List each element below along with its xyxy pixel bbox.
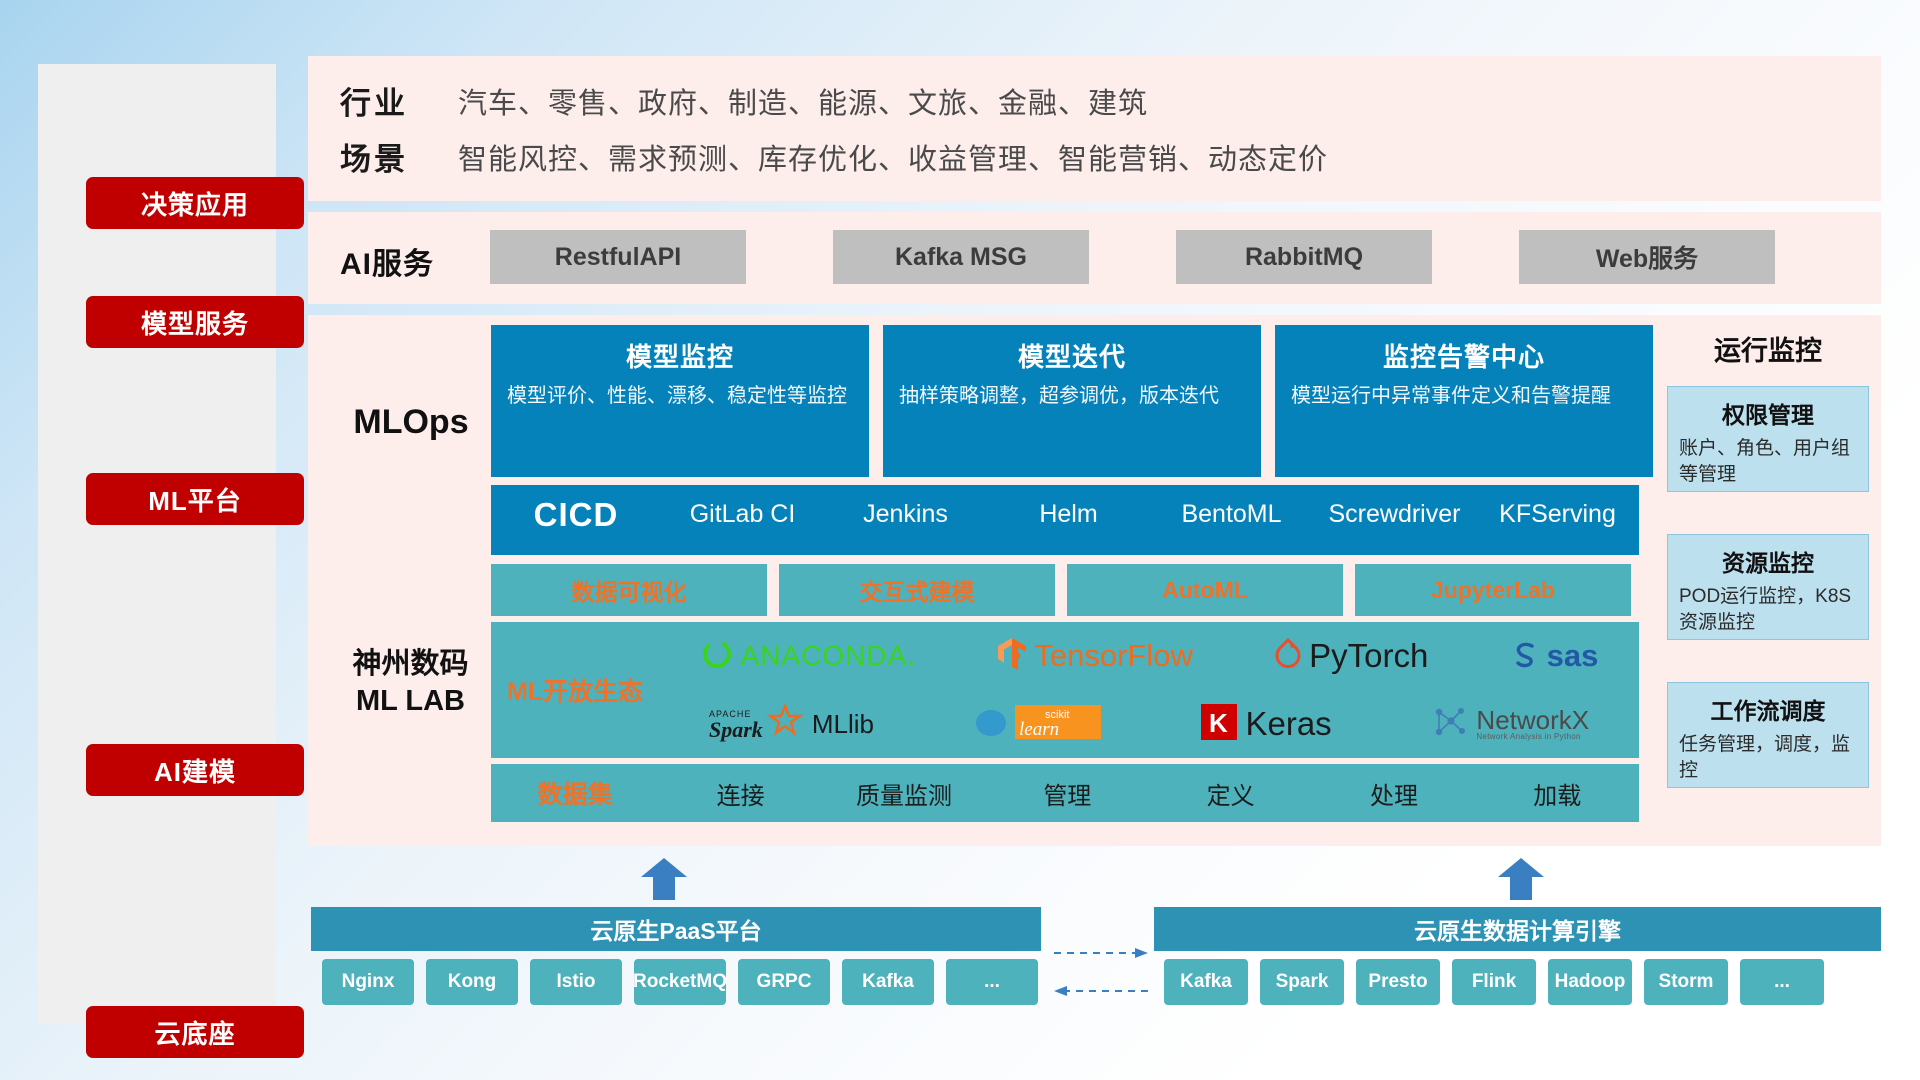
rail-label: 云底座 <box>154 1014 235 1051</box>
paas-pill-more[interactable]: ... <box>946 959 1038 1005</box>
networkx-icon <box>1431 704 1469 745</box>
paas-pill-istio[interactable]: Istio <box>530 959 622 1005</box>
cicd-item-gitlab-ci[interactable]: GitLab CI <box>661 496 824 532</box>
cicd-item-screwdriver[interactable]: Screwdriver <box>1313 496 1476 532</box>
scenario-value: 智能风控、需求预测、库存优化、收益管理、智能营销、动态定价 <box>458 136 1328 178</box>
ml-lab-label-line1: 神州数码 <box>328 646 493 683</box>
tool-chip-interactive-modeling[interactable]: 交互式建模 <box>779 564 1055 616</box>
mlops-band: MLOps 模型监控 模型评价、性能、漂移、稳定性等监控 模型迭代 抽样策略调整… <box>308 315 1881 557</box>
ml-lab-label: 神州数码 ML LAB <box>328 646 493 720</box>
engine-pill-presto[interactable]: Presto <box>1356 959 1440 1005</box>
paas-pill-grpc[interactable]: GRPC <box>738 959 830 1005</box>
ai-service-label: AI服务 <box>340 239 434 283</box>
service-chip-kafka-msg[interactable]: Kafka MSG <box>833 230 1089 284</box>
svg-text:K: K <box>1209 708 1228 738</box>
cicd-item-jenkins[interactable]: Jenkins <box>824 496 987 532</box>
card-desc: POD运行监控，K8S资源监控 <box>1679 584 1857 635</box>
tensorflow-icon <box>997 637 1027 676</box>
rail-item-decision-application[interactable]: 决策应用 <box>86 177 304 229</box>
paas-pill-rocketmq[interactable]: RocketMQ <box>634 959 726 1005</box>
modeling-tool-group: 数据可视化 交互式建模 AutoML JupyterLab <box>491 564 1631 616</box>
rail-label: ML平台 <box>148 481 242 518</box>
logo-label: TensorFlow <box>1034 638 1193 674</box>
card-desc: 任务管理，调度，监控 <box>1679 732 1857 783</box>
rail-label: 决策应用 <box>141 185 249 222</box>
keras-icon: K <box>1200 703 1238 746</box>
service-chip-restfulapi[interactable]: RestfulAPI <box>490 230 746 284</box>
engine-pill-spark[interactable]: Spark <box>1260 959 1344 1005</box>
card-desc: 模型评价、性能、漂移、稳定性等监控 <box>507 382 853 410</box>
engine-pill-more[interactable]: ... <box>1740 959 1824 1005</box>
ml-ecosystem-box: ML开放生态 ANACONDA. <box>491 622 1639 758</box>
dataset-title: 数据集 <box>491 775 659 811</box>
card-desc: 抽样策略调整，超参调优，版本迭代 <box>899 382 1245 410</box>
logo-label: ANACONDA. <box>741 640 916 672</box>
paas-component-group: Nginx Kong Istio RocketMQ GRPC Kafka ... <box>322 959 1038 1005</box>
networkx-tagline: Network Analysis in Python <box>1476 733 1589 741</box>
up-arrow-paas <box>641 858 687 900</box>
mlops-card-model-iteration[interactable]: 模型迭代 抽样策略调整，超参调优，版本迭代 <box>883 325 1261 477</box>
cicd-item-helm[interactable]: Helm <box>987 496 1150 532</box>
rail-label: AI建模 <box>154 752 236 789</box>
sas-icon <box>1510 639 1540 674</box>
engine-pill-storm[interactable]: Storm <box>1644 959 1728 1005</box>
logo-tensorflow[interactable]: TensorFlow <box>997 637 1193 676</box>
mlops-card-alert-center[interactable]: 监控告警中心 模型运行中异常事件定义和告警提醒 <box>1275 325 1653 477</box>
cicd-title: CICD <box>491 496 661 534</box>
mlops-card-model-monitoring[interactable]: 模型监控 模型评价、性能、漂移、稳定性等监控 <box>491 325 869 477</box>
runtime-monitoring-title: 运行监控 <box>1655 329 1881 368</box>
ai-service-chip-group: RestfulAPI Kafka MSG RabbitMQ Web服务 <box>490 230 1775 284</box>
card-title: 资源监控 <box>1679 544 1857 578</box>
rail-item-cloud-foundation[interactable]: 云底座 <box>86 1006 304 1058</box>
ml-ecosystem-title: ML开放生态 <box>491 672 659 708</box>
dataset-item-loading[interactable]: 加载 <box>1476 776 1639 811</box>
industry-row: 行业 汽车、零售、政府、制造、能源、文旅、金融、建筑 <box>340 78 1148 123</box>
cicd-bar: CICD GitLab CI Jenkins Helm BentoML Scre… <box>491 485 1639 555</box>
card-title: 工作流调度 <box>1679 692 1857 726</box>
ai-modeling-band: 神州数码 ML LAB 数据可视化 交互式建模 AutoML JupyterLa… <box>308 556 1881 846</box>
scikit-learn-icon <box>974 706 1008 743</box>
paas-pill-kafka[interactable]: Kafka <box>842 959 934 1005</box>
rail-item-ai-modeling[interactable]: AI建模 <box>86 744 304 796</box>
paas-platform-bar[interactable]: 云原生PaaS平台 <box>311 907 1041 951</box>
dataset-row: 数据集 连接 质量监测 管理 定义 处理 加载 <box>491 764 1639 822</box>
scenario-row: 场景 智能风控、需求预测、库存优化、收益管理、智能营销、动态定价 <box>340 134 1328 179</box>
scenario-label: 场景 <box>340 134 458 179</box>
data-engine-component-group: Kafka Spark Presto Flink Hadoop Storm ..… <box>1164 959 1824 1005</box>
tool-chip-jupyterlab[interactable]: JupyterLab <box>1355 564 1631 616</box>
dataset-item-connect[interactable]: 连接 <box>659 776 822 811</box>
cicd-item-bentoml[interactable]: BentoML <box>1150 496 1313 532</box>
card-title: 监控告警中心 <box>1291 337 1637 374</box>
bidirectional-dashed-arrows <box>1052 939 1150 1005</box>
left-rail: 决策应用 模型服务 ML平台 AI建模 云底座 <box>38 64 276 1024</box>
monitor-card-resource-monitoring[interactable]: 资源监控 POD运行监控，K8S资源监控 <box>1667 534 1869 640</box>
engine-pill-hadoop[interactable]: Hadoop <box>1548 959 1632 1005</box>
card-desc: 模型运行中异常事件定义和告警提醒 <box>1291 382 1637 410</box>
logo-sas[interactable]: sas <box>1510 638 1599 674</box>
runtime-monitoring-column: 运行监控 权限管理 账户、角色、用户组等管理 资源监控 POD运行监控，K8S资… <box>1655 315 1881 846</box>
paas-pill-kong[interactable]: Kong <box>426 959 518 1005</box>
monitor-card-workflow-scheduling[interactable]: 工作流调度 任务管理，调度，监控 <box>1667 682 1869 788</box>
logo-label: NetworkX <box>1476 707 1589 733</box>
dataset-item-quality-monitoring[interactable]: 质量监测 <box>822 776 985 811</box>
scikit-learn-wordmark: scikit learn <box>1015 703 1101 746</box>
ecosystem-logo-row-2: APACHE Spark MLlib <box>659 690 1639 758</box>
data-compute-engine-bar[interactable]: 云原生数据计算引擎 <box>1154 907 1881 951</box>
engine-pill-kafka[interactable]: Kafka <box>1164 959 1248 1005</box>
mlops-label: MLOps <box>336 403 486 442</box>
logo-spark-mllib[interactable]: APACHE Spark MLlib <box>709 702 874 747</box>
logo-label: sas <box>1547 638 1599 674</box>
logo-pytorch[interactable]: PyTorch <box>1274 637 1428 675</box>
decision-application-band: 行业 汽车、零售、政府、制造、能源、文旅、金融、建筑 场景 智能风控、需求预测、… <box>308 56 1881 201</box>
card-title: 权限管理 <box>1679 396 1857 430</box>
logo-label: Keras <box>1245 705 1331 743</box>
tool-chip-automl[interactable]: AutoML <box>1067 564 1343 616</box>
svg-text:Spark: Spark <box>709 717 763 742</box>
logo-scikit-learn[interactable]: scikit learn <box>974 703 1101 746</box>
rail-item-model-service[interactable]: 模型服务 <box>86 296 304 348</box>
svg-text:learn: learn <box>1019 719 1059 740</box>
apache-spark-icon: APACHE Spark <box>709 702 805 747</box>
paas-pill-nginx[interactable]: Nginx <box>322 959 414 1005</box>
anaconda-icon <box>700 637 734 676</box>
tool-chip-data-visualization[interactable]: 数据可视化 <box>491 564 767 616</box>
logo-anaconda[interactable]: ANACONDA. <box>700 637 916 676</box>
ecosystem-logo-row-1: ANACONDA. TensorFlow <box>659 622 1639 690</box>
logo-label: MLlib <box>812 709 874 740</box>
ml-lab-label-line2: ML LAB <box>328 683 493 720</box>
rail-label: 模型服务 <box>141 304 249 341</box>
industry-value: 汽车、零售、政府、制造、能源、文旅、金融、建筑 <box>458 80 1148 122</box>
cicd-item-kfserving[interactable]: KFServing <box>1476 496 1639 532</box>
up-arrow-data-engine <box>1498 858 1544 900</box>
dataset-item-processing[interactable]: 处理 <box>1312 776 1475 811</box>
logo-label: PyTorch <box>1309 637 1428 675</box>
card-title: 模型迭代 <box>899 337 1245 374</box>
engine-pill-flink[interactable]: Flink <box>1452 959 1536 1005</box>
dataset-item-definition[interactable]: 定义 <box>1149 776 1312 811</box>
service-chip-web-service[interactable]: Web服务 <box>1519 230 1775 284</box>
architecture-diagram: 决策应用 模型服务 ML平台 AI建模 云底座 行业 汽车、零售、政府、制造、能… <box>0 0 1920 1080</box>
pytorch-icon <box>1274 638 1302 675</box>
logo-networkx[interactable]: NetworkX Network Analysis in Python <box>1431 704 1589 745</box>
ml-ecosystem-logos: ANACONDA. TensorFlow <box>659 622 1639 758</box>
rail-item-ml-platform[interactable]: ML平台 <box>86 473 304 525</box>
service-chip-rabbitmq[interactable]: RabbitMQ <box>1176 230 1432 284</box>
dataset-item-management[interactable]: 管理 <box>986 776 1149 811</box>
card-desc: 账户、角色、用户组等管理 <box>1679 436 1857 487</box>
industry-label: 行业 <box>340 78 458 123</box>
logo-keras[interactable]: K Keras <box>1200 703 1331 746</box>
monitor-card-permission-management[interactable]: 权限管理 账户、角色、用户组等管理 <box>1667 386 1869 492</box>
mlops-card-group: 模型监控 模型评价、性能、漂移、稳定性等监控 模型迭代 抽样策略调整，超参调优，… <box>491 325 1653 477</box>
model-service-band: AI服务 RestfulAPI Kafka MSG RabbitMQ Web服务 <box>308 212 1881 304</box>
card-title: 模型监控 <box>507 337 853 374</box>
